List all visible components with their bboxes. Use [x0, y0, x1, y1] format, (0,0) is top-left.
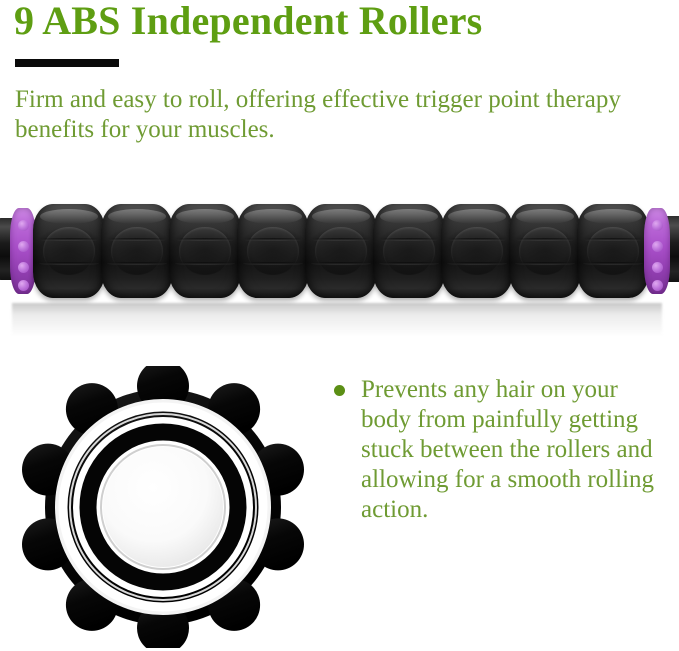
roller-segment: [33, 204, 105, 298]
page-subtitle: Firm and easy to roll, offering effectiv…: [15, 85, 665, 145]
roller-segment: [169, 204, 241, 298]
roller-segment: [305, 204, 377, 298]
segment-lens: [383, 227, 435, 276]
segment-lens: [179, 227, 231, 276]
grip-band-right: [644, 208, 670, 294]
segment-lens: [43, 227, 95, 276]
grip-stud-icon: [18, 262, 29, 273]
roller-segment: [237, 204, 309, 298]
roller-product-image: [0, 186, 679, 336]
segment-highlight: [244, 209, 302, 224]
segment-lens: [451, 227, 503, 276]
roller-cross-section-image: [18, 366, 308, 648]
segment-highlight: [584, 209, 642, 224]
roller-segment: [441, 204, 513, 298]
roller-segment: [509, 204, 581, 298]
roller-segment: [373, 204, 445, 298]
page-title: 9 ABS Independent Rollers: [14, 0, 674, 44]
segment-lens: [587, 227, 639, 276]
grip-stud-icon: [652, 280, 663, 291]
segment-groove: [243, 238, 302, 241]
segment-highlight: [516, 209, 574, 224]
segment-highlight: [176, 209, 234, 224]
grip-stud-icon: [18, 241, 29, 252]
segment-highlight: [312, 209, 370, 224]
roller-segment: [577, 204, 649, 298]
segment-highlight: [448, 209, 506, 224]
bullet-dot-icon: [334, 385, 345, 396]
segment-groove: [107, 238, 166, 241]
feature-list-item: Prevents any hair on your body from pain…: [361, 375, 674, 525]
segment-highlight: [380, 209, 438, 224]
segment-lens: [247, 227, 299, 276]
segment-lens: [111, 227, 163, 276]
grip-stud-icon: [652, 220, 663, 231]
segment-groove: [39, 238, 98, 241]
segment-groove: [175, 238, 234, 241]
product-feature-page: 9 ABS Independent Rollers Firm and easy …: [0, 0, 679, 651]
grip-stud-icon: [18, 280, 29, 291]
segment-lens: [315, 227, 367, 276]
gear-center-face: [103, 447, 223, 567]
grip-stud-icon: [18, 220, 29, 231]
roller-illustration: [0, 186, 679, 316]
segment-groove: [311, 238, 370, 241]
segment-lens: [519, 227, 571, 276]
segment-groove: [447, 238, 506, 241]
segment-groove: [515, 238, 574, 241]
gear-disc-graphic: [18, 366, 308, 648]
roller-segment: [101, 204, 173, 298]
segment-groove: [379, 238, 438, 241]
segment-highlight: [40, 209, 98, 224]
feature-list: Prevents any hair on your body from pain…: [329, 375, 674, 525]
title-divider-rule: [15, 59, 119, 67]
grip-stud-icon: [652, 241, 663, 252]
segment-highlight: [108, 209, 166, 224]
grip-stud-icon: [652, 262, 663, 273]
segment-groove: [583, 238, 642, 241]
